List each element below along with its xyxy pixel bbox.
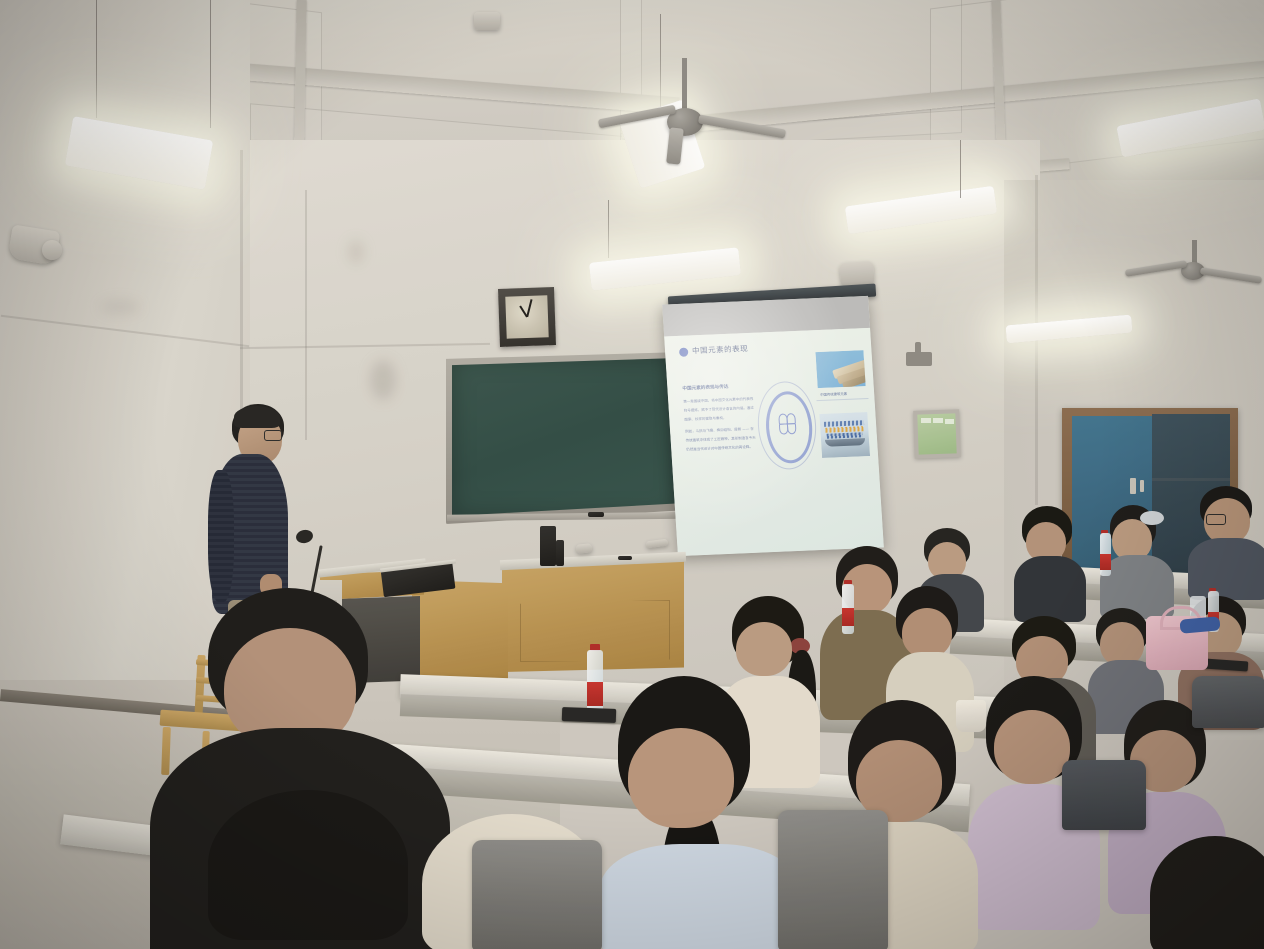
slide-image-roof-eave [815, 350, 865, 388]
audience-member [1186, 486, 1264, 596]
torso [1188, 538, 1264, 600]
slide-image-caption: 中国传统建筑元素 [820, 391, 847, 397]
wall-mark [348, 240, 364, 264]
audience-member [1014, 506, 1086, 618]
mineral-water-bottle[interactable] [584, 644, 606, 716]
head [994, 710, 1070, 784]
glasses-icon [1206, 514, 1226, 525]
slide-subheading: 中国元素的表现与传达 [682, 384, 728, 392]
wall-mark [100, 300, 140, 314]
slide-divider [816, 398, 868, 401]
seat-back [472, 840, 602, 949]
slide-content: 中国元素的表现 中国元素的表现与传达 第一章围绕中国，将中国文化元素中的代表性 … [664, 328, 884, 556]
wall-mark [370, 360, 396, 400]
light-wire [608, 200, 609, 258]
projector-mount [915, 342, 921, 354]
projection-screen: 中国元素的表现 中国元素的表现与传达 第一章围绕中国，将中国文化元素中的代表性 … [662, 296, 884, 556]
light-wire [210, 0, 211, 128]
remote-control[interactable] [618, 556, 632, 560]
head [902, 608, 952, 658]
presenter-arm [208, 470, 234, 602]
hair [208, 790, 408, 940]
door-glass-divider [1152, 478, 1230, 481]
notice-slip [933, 418, 943, 423]
torso [1014, 556, 1086, 622]
console-equipment [556, 540, 564, 566]
light-wire [660, 14, 661, 112]
notice-slip [921, 418, 931, 423]
slide-body-line: 传统建筑中体现了工匠精神，其形制语言今天 [686, 436, 756, 444]
wall-seam [305, 190, 307, 440]
mineral-water-bottle[interactable] [840, 580, 856, 634]
presenter-hair-top [234, 406, 280, 428]
slide-body-line: 第一章围绕中国，将中国文化元素中的代表性 [683, 397, 753, 405]
console-equipment [540, 526, 556, 566]
paper-cup[interactable] [956, 700, 986, 732]
circle-dot-icon [679, 348, 689, 357]
door-handle[interactable] [1130, 478, 1136, 494]
head [736, 622, 792, 676]
seat-back [778, 810, 888, 949]
wall-speaker-dome [42, 240, 62, 260]
projector-mount [906, 352, 932, 366]
slide-body-line: 例如，斗拱与飞檐、榫卯结构、屋脊 —— 在 [685, 427, 754, 435]
hair [1150, 836, 1264, 949]
seat-back [1192, 676, 1264, 728]
smartphone-on-desk[interactable] [562, 707, 616, 723]
bottle-label [587, 682, 603, 706]
audience-member-foreground [1150, 836, 1264, 949]
presenter-glasses [264, 430, 282, 441]
head [628, 728, 734, 828]
slide-image-dougong [819, 412, 870, 458]
door-handle[interactable] [1140, 480, 1144, 492]
slide-title: 中国元素的表现 [692, 343, 749, 356]
chalkboard-surface [452, 358, 678, 516]
slide-body-line: 符号提炼，赋予了现代设计语言的内涵。通过 [684, 406, 754, 414]
light-wire [960, 140, 961, 198]
paper-stack [576, 543, 593, 553]
lecture-hall-photo: 中国元素的表现 中国元素的表现与传达 第一章围绕中国，将中国文化元素中的代表性 … [0, 0, 1264, 949]
wall-speaker [474, 12, 500, 30]
bottle-label [1100, 554, 1111, 570]
slide-body-line: 仍然是当代设计对中国传统文化的再诠释。 [686, 445, 753, 453]
mineral-water-bottle[interactable] [1098, 530, 1112, 576]
seat-back [1062, 760, 1146, 830]
slide-body-line: 图案、纹样的提取与重构， [684, 416, 726, 423]
chalkboard-eraser [588, 512, 604, 517]
notice-slip [945, 419, 954, 424]
light-wire [96, 0, 97, 118]
bottle-label [842, 608, 854, 626]
